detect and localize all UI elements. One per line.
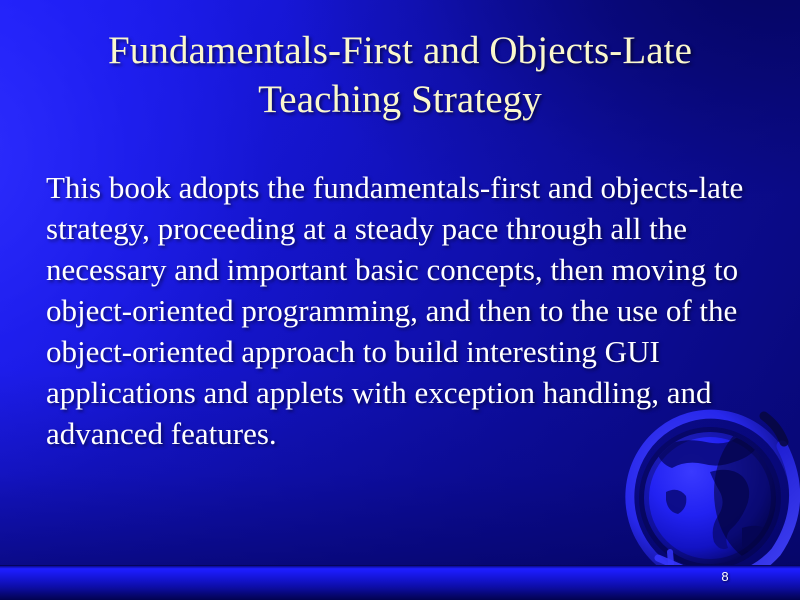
slide-title: Fundamentals-First and Objects-Late Teac… [34, 26, 766, 124]
footer-band [0, 566, 800, 600]
slide-page-number: 8 [714, 569, 736, 585]
slide-body-paragraph: This book adopts the fundamentals-first … [46, 167, 762, 454]
slide-body: This book adopts the fundamentals-first … [46, 167, 762, 454]
presentation-slide: Fundamentals-First and Objects-Late Teac… [0, 0, 800, 600]
